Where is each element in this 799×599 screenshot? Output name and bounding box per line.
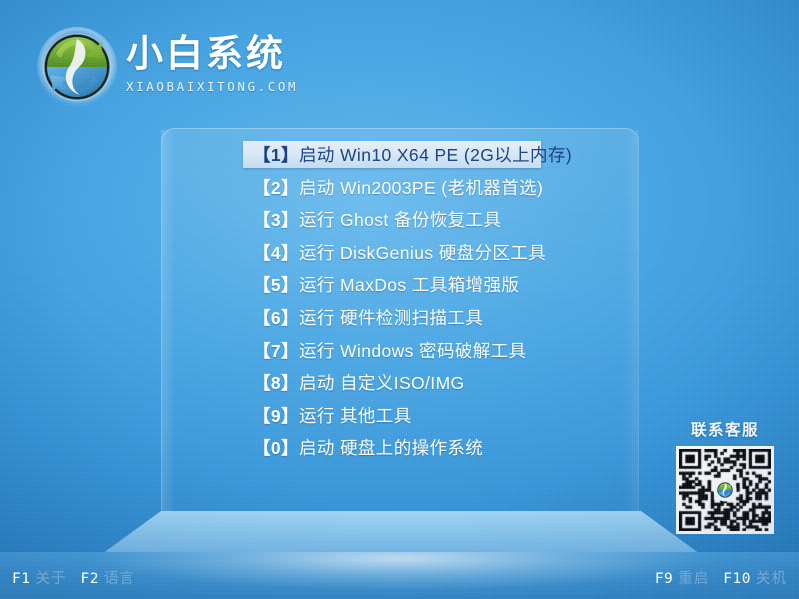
function-key-label: 关机 [756,571,787,587]
qr-code-icon[interactable] [676,446,774,534]
function-key-f10[interactable]: F10关机 [723,567,787,588]
boot-menu-item-key: 【7】 [253,338,299,363]
boot-menu-item-key: 【3】 [253,207,299,232]
boot-menu-item-key: 【4】 [253,240,299,265]
boot-menu-screen: 小白系统 XIAOBAIXITONG.COM 【1】启动 Win10 X64 P… [0,0,799,599]
boot-menu-item-key: 【6】 [253,305,299,330]
boot-menu-item-3[interactable]: 【3】运行 Ghost 备份恢复工具 [243,206,543,233]
boot-menu-item-label: 运行 MaxDos 工具箱增强版 [299,272,519,297]
boot-menu-item-key: 【8】 [253,370,299,395]
boot-menu-item-9[interactable]: 【9】运行 其他工具 [243,402,543,429]
function-key-f9[interactable]: F9重启 [655,567,709,588]
boot-menu-item-key: 【1】 [253,142,299,167]
boot-menu-item-label: 运行 Ghost 备份恢复工具 [299,207,501,232]
function-key-label: 语言 [104,571,135,587]
recycle-circle-logo-icon [34,24,120,110]
function-keys-right[interactable]: F9重启F10关机 [655,567,787,588]
boot-menu-item-6[interactable]: 【6】运行 硬件检测扫描工具 [243,304,543,331]
boot-menu-item-label: 运行 硬件检测扫描工具 [299,305,483,330]
function-key-f2[interactable]: F2语言 [80,567,134,588]
function-keys-left[interactable]: F1关于F2语言 [12,567,149,588]
boot-menu-item-4[interactable]: 【4】运行 DiskGenius 硬盘分区工具 [243,239,543,266]
function-key-name: F2 [80,571,98,587]
boot-menu-item-label: 启动 自定义ISO/IMG [299,370,465,395]
function-key-f1[interactable]: F1关于 [12,567,66,588]
stage-left-edge [161,130,175,514]
boot-menu-item-label: 启动 硬盘上的操作系统 [299,435,483,460]
boot-menu-item-label: 启动 Win2003PE (老机器首选) [299,175,543,200]
contact-support-block: 联系客服 [672,418,778,534]
boot-menu-item-5[interactable]: 【5】运行 MaxDos 工具箱增强版 [243,271,543,298]
boot-menu-item-7[interactable]: 【7】运行 Windows 密码破解工具 [243,337,543,364]
boot-menu-item-key: 【0】 [253,435,299,460]
brand-wordmark: 小白系统 XIAOBAIXITONG.COM [126,32,306,95]
qr-center-recycle-circle-logo-icon [715,480,735,500]
boot-menu-item-key: 【9】 [253,403,299,428]
brand-name-en: XIAOBAIXITONG.COM [126,79,306,95]
boot-menu-item-2[interactable]: 【2】启动 Win2003PE (老机器首选) [243,174,543,201]
function-key-label: 重启 [678,571,709,587]
function-key-name: F10 [723,571,751,587]
boot-menu-item-1[interactable]: 【1】启动 Win10 X64 PE (2G以上内存) [243,141,541,168]
brand-name-cn: 小白系统 [126,32,306,76]
brand-logo: 小白系统 XIAOBAIXITONG.COM [34,24,284,110]
contact-support-title: 联系客服 [672,418,778,440]
function-key-name: F1 [12,571,30,587]
function-key-name: F9 [655,571,673,587]
boot-menu-item-key: 【2】 [253,175,299,200]
boot-menu-item-label: 启动 Win10 X64 PE (2G以上内存) [299,142,572,167]
boot-menu-item-key: 【5】 [253,272,299,297]
boot-menu-item-8[interactable]: 【8】启动 自定义ISO/IMG [243,369,543,396]
boot-menu-item-label: 运行 DiskGenius 硬盘分区工具 [299,240,546,265]
boot-menu-list[interactable]: 【1】启动 Win10 X64 PE (2G以上内存)【2】启动 Win2003… [243,141,543,467]
boot-menu-item-10[interactable]: 【0】启动 硬盘上的操作系统 [243,434,543,461]
boot-menu-item-label: 运行 其他工具 [299,403,412,428]
function-key-label: 关于 [35,571,66,587]
boot-menu-item-label: 运行 Windows 密码破解工具 [299,338,527,363]
stage-right-edge [624,130,639,514]
